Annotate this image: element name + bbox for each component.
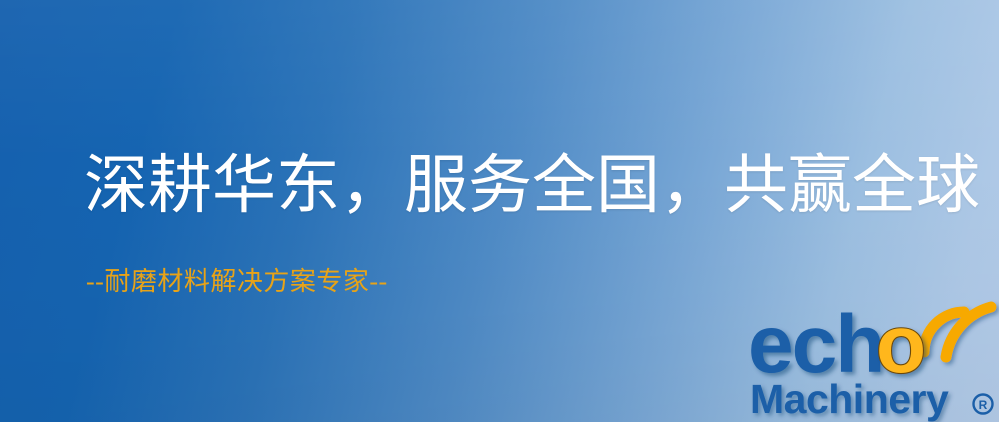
signal-arcs-icon <box>924 307 991 357</box>
hero-banner: 深耕华东，服务全国，共赢全球 --耐磨材料解决方案专家-- ech <box>0 0 999 422</box>
echo-machinery-logo[interactable]: ech o Machinery R <box>748 296 999 422</box>
svg-text:Machinery: Machinery <box>750 376 949 422</box>
page-subtitle: --耐磨材料解决方案专家-- <box>86 266 388 298</box>
svg-text:R: R <box>979 398 988 412</box>
page-title: 深耕华东，服务全国，共赢全球 <box>84 152 980 220</box>
logo-tagline: Machinery <box>750 376 949 422</box>
registered-trademark-icon: R <box>974 395 993 414</box>
